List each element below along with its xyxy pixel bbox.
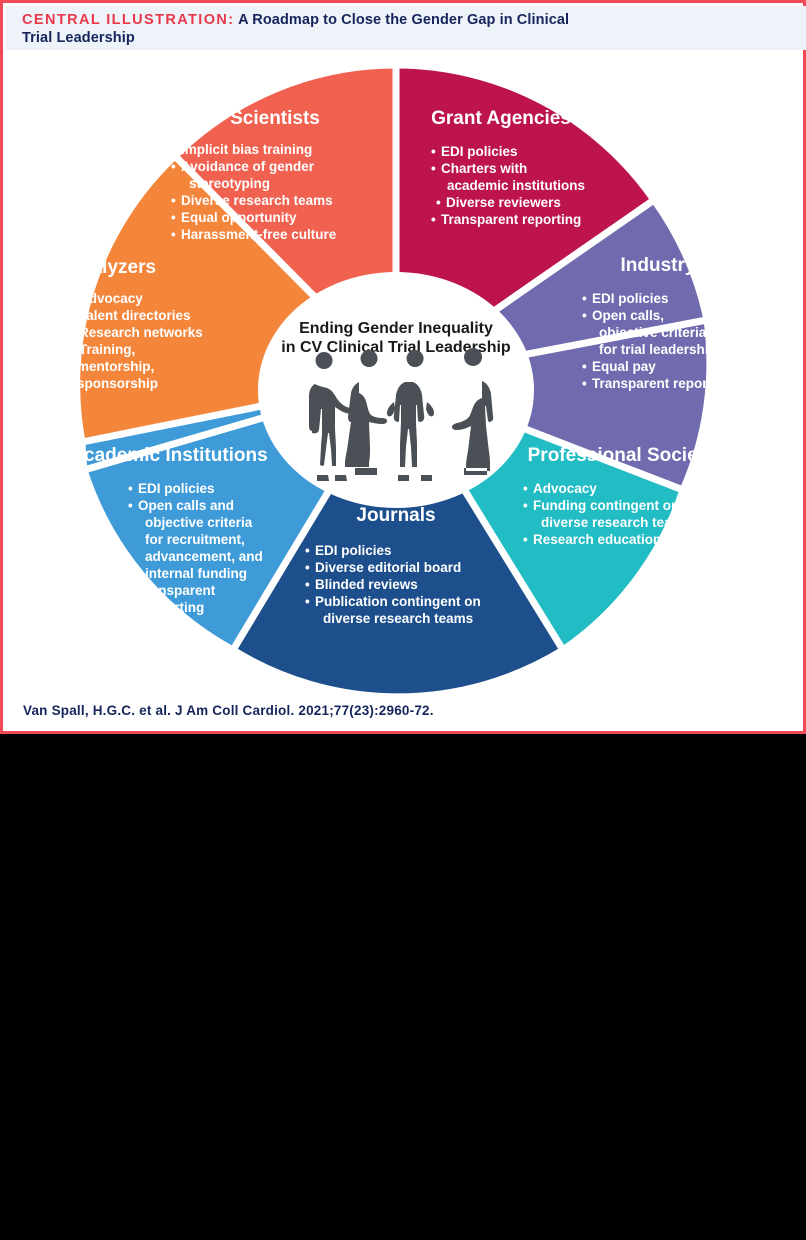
segment-title-scientists: Scientists [230,108,320,129]
bullet-marker: • [69,291,74,306]
list-item: mentorship, [77,359,154,374]
list-item: Transparent reporting [441,212,581,227]
list-item: Diverse research teams [181,193,333,208]
center-title-line-1: Ending Gender Inequality [299,320,493,337]
list-item: sponsorship [77,376,158,391]
bullet-marker: • [582,376,587,391]
figure-title-line-2: Trial Leadership [22,29,790,47]
central-illustration-eyebrow: CENTRAL ILLUSTRATION: [22,12,235,28]
bullet-marker: • [69,308,74,323]
segment-title-grant-agencies: Grant Agencies [431,108,571,129]
citation-text: Van Spall, H.G.C. et al. J Am Coll Cardi… [23,703,434,718]
list-item: Charters with [441,161,527,176]
bullet-marker: • [523,532,528,547]
list-item: Open calls and [138,498,234,513]
bullet-marker: • [128,583,133,598]
segment-title-academic-institutions: Academic Institutions [70,445,267,466]
segment-title-journals: Journals [356,505,435,526]
list-item: reporting [145,600,204,615]
bullet-marker: • [582,291,587,306]
list-item: Equal pay [592,359,656,374]
bullet-marker: • [523,481,528,496]
bullet-marker: • [69,325,74,340]
list-item: objective criteria [145,515,253,530]
bullet-marker: • [305,543,310,558]
list-item: Advocacy [79,291,143,306]
list-item: internal funding [145,566,247,581]
bullet-marker: • [171,193,176,208]
bullet-marker: • [431,144,436,159]
bullet-marker: • [69,342,74,357]
list-item: Publication contingent on [315,594,481,609]
list-item: Open calls, [592,308,664,323]
list-item: Funding contingent on [533,498,679,513]
list-item: Diverse reviewers [446,195,561,210]
bullet-marker: • [171,159,176,174]
bullet-marker: • [582,359,587,374]
list-item: Implicit bias training [181,142,312,157]
center-hub-ellipse [258,272,534,508]
list-item: Equal opportunity [181,210,297,225]
bullet-marker: • [128,481,133,496]
list-item: objective criteria [599,325,707,340]
list-item: Transparent [138,583,216,598]
roadmap-donut-chart: Scientists Implicit bias training • Avoi… [3,50,803,700]
list-item: Research networks [79,325,203,340]
bullet-marker: • [128,498,133,513]
list-item: Training, [79,342,135,357]
list-item: diverse research teams [323,611,473,626]
bullet-marker: • [171,210,176,225]
list-item: Research education [533,532,661,547]
list-item: Talent directories [79,308,191,323]
list-item: stereotyping [189,176,270,191]
bullet-marker: • [523,498,528,513]
figure-title-text-part1: A Roadmap to Close the Gender Gap in Cli… [235,12,570,28]
list-item: Blinded reviews [315,577,418,592]
list-item: academic institutions [447,178,585,193]
central-illustration-figure: CENTRAL ILLUSTRATION: A Roadmap to Close… [0,0,806,734]
list-item: diverse research teams [541,515,691,530]
list-item: for recruitment, [145,532,245,547]
segment-title-professional-societies: Professional Societies [528,445,731,466]
figure-title-line-1: CENTRAL ILLUSTRATION: A Roadmap to Close… [22,11,790,29]
bullet-marker: • [436,195,441,210]
segment-title-industry: Industry [621,255,696,276]
bullet-marker: • [171,142,176,157]
list-item: for trial leadership [599,342,717,357]
list-item: advancement, and [145,549,263,564]
bullet-marker: • [305,560,310,575]
list-item: EDI policies [138,481,215,496]
list-item: EDI policies [592,291,669,306]
list-item: Transparent reporting [592,376,732,391]
bullet-marker: • [431,212,436,227]
bullet-marker: • [171,227,176,242]
bullet-marker: • [305,594,310,609]
bullet-marker: • [582,308,587,323]
list-item: Harassment-free culture [181,227,337,242]
figure-header-banner: CENTRAL ILLUSTRATION: A Roadmap to Close… [6,6,806,50]
list-item: Avoidance of gender [181,159,315,174]
list-item: EDI policies [441,144,518,159]
segment-title-catalyzers: Catalyzers [61,257,156,278]
list-item: Diverse editorial board [315,560,461,575]
list-item: Advocacy [533,481,597,496]
bullet-marker: • [305,577,310,592]
donut-chart-svg: Scientists Implicit bias training • Avoi… [3,50,803,700]
bullet-marker: • [431,161,436,176]
list-item: EDI policies [315,543,392,558]
